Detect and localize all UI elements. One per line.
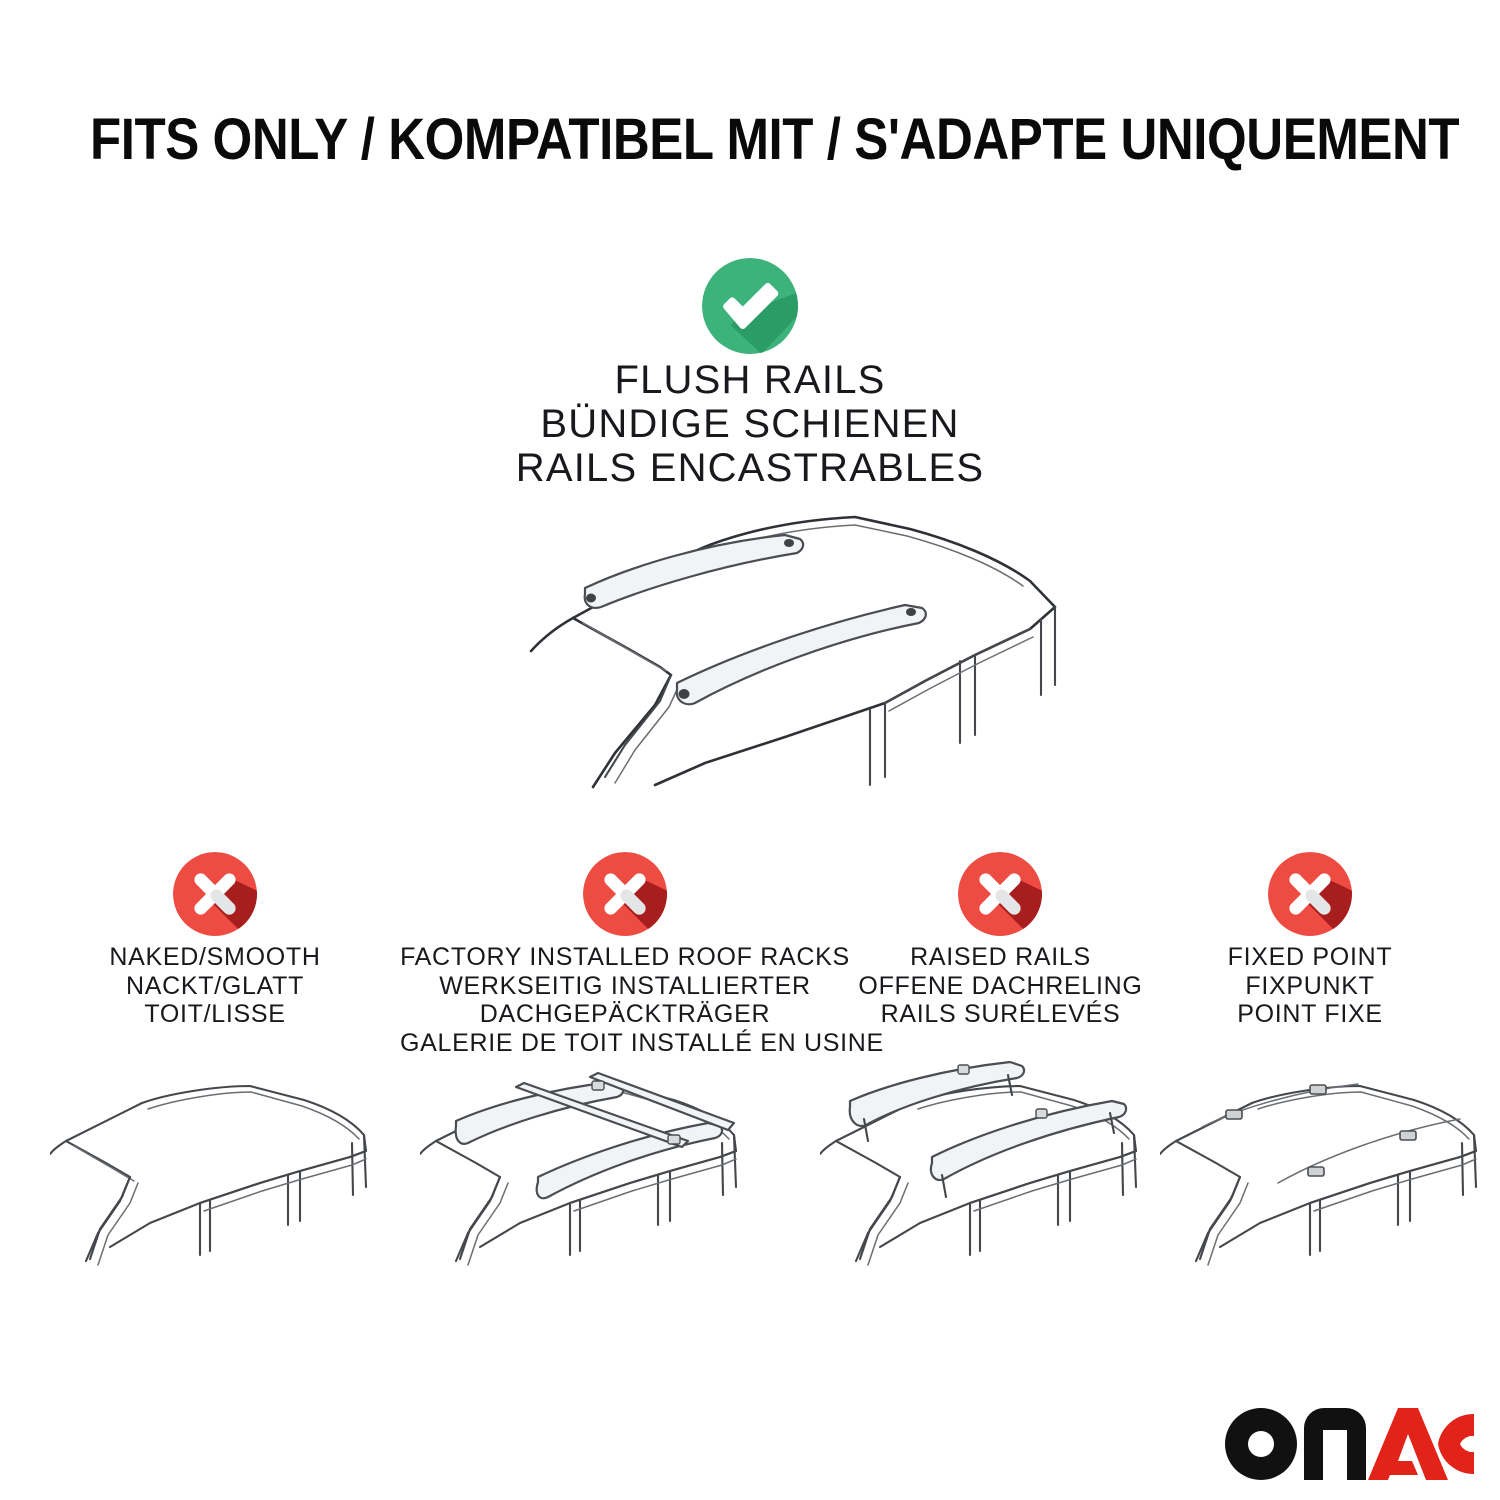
car-roof-naked-smooth-illustration (50, 1055, 390, 1295)
incompatible-label-de-1: WERKSEITIG INSTALLIERTER (400, 972, 850, 1001)
compatible-label-fr: RAILS ENCASTRABLES (0, 446, 1500, 490)
compatible-label-en: FLUSH RAILS (0, 358, 1500, 402)
incompatible-label-fr: POINT FIXE (1140, 1000, 1480, 1029)
incompatible-label-de: FIXPUNKT (1140, 972, 1480, 1001)
page-title: FITS ONLY / KOMPATIBEL MIT / S'ADAPTE UN… (90, 108, 1410, 172)
incompatible-label-en: NAKED/SMOOTH (35, 943, 395, 972)
incompatible-label-en: FACTORY INSTALLED ROOF RACKS (400, 943, 850, 972)
fitment-infographic: FITS ONLY / KOMPATIBEL MIT / S'ADAPTE UN… (0, 0, 1500, 1500)
incompatible-labels-raised-rails: RAISED RAILS OFFENE DACHRELING RAILS SUR… (828, 943, 1173, 1029)
incompatible-label-en: RAISED RAILS (828, 943, 1173, 972)
incompatible-labels-factory-racks: FACTORY INSTALLED ROOF RACKS WERKSEITIG … (400, 943, 850, 1057)
incompatible-label-de-2: DACHGEPÄCKTRÄGER (400, 1000, 850, 1029)
x-circle-icon (583, 852, 667, 936)
incompatible-label-en: FIXED POINT (1140, 943, 1480, 972)
compatible-label-de: BÜNDIGE SCHIENEN (0, 402, 1500, 446)
incompatible-label-de: OFFENE DACHRELING (828, 972, 1173, 1001)
compatible-labels: FLUSH RAILS BÜNDIGE SCHIENEN RAILS ENCAS… (0, 358, 1500, 490)
incompatible-labels-naked-smooth: NAKED/SMOOTH NACKT/GLATT TOIT/LISSE (35, 943, 395, 1029)
check-circle-icon (702, 258, 798, 354)
car-roof-with-flush-rails-illustration (455, 495, 1065, 795)
car-roof-fixed-point-illustration (1160, 1055, 1500, 1295)
x-circle-icon (958, 852, 1042, 936)
x-circle-icon (1268, 852, 1352, 936)
car-roof-factory-installed-roof-racks-illustration (420, 1055, 760, 1295)
incompatible-label-fr: GALERIE DE TOIT INSTALLÉ EN USINE (400, 1029, 850, 1058)
incompatible-labels-fixed-point: FIXED POINT FIXPUNKT POINT FIXE (1140, 943, 1480, 1029)
incompatible-label-fr: TOIT/LISSE (35, 1000, 395, 1029)
omac-logo (1222, 1406, 1474, 1480)
incompatible-label-de: NACKT/GLATT (35, 972, 395, 1001)
x-circle-icon (173, 852, 257, 936)
car-roof-raised-rails-illustration (820, 1055, 1160, 1295)
incompatible-label-fr: RAILS SURÉLEVÉS (828, 1000, 1173, 1029)
